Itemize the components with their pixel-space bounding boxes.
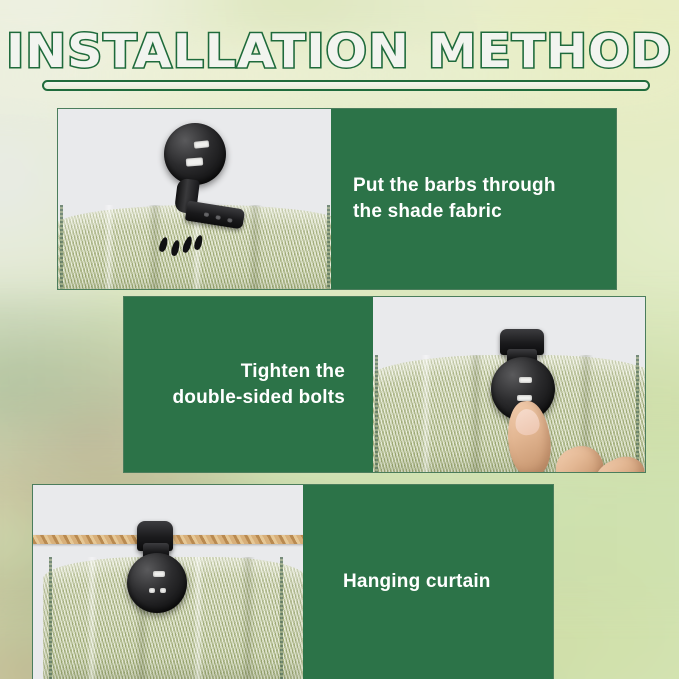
clip-slot-lower bbox=[186, 157, 204, 166]
page-title: INSTALLATION METHOD bbox=[7, 26, 673, 76]
step-3-caption-text: Hanging curtain bbox=[343, 569, 491, 595]
clip-slot-upper bbox=[153, 571, 165, 577]
clip-slot-upper bbox=[519, 377, 532, 383]
clip-disc bbox=[164, 123, 226, 185]
step-1-caption-text: Put the barbs through the shade fabric bbox=[353, 173, 556, 225]
step-1-caption: Put the barbs through the shade fabric bbox=[331, 109, 616, 289]
step-panel-3: Hanging curtain bbox=[32, 484, 554, 679]
step-3-caption: Hanging curtain bbox=[303, 485, 553, 679]
clip-disc bbox=[127, 553, 187, 613]
step-panel-2: Tighten the double-sided bolts bbox=[123, 296, 646, 473]
clip-bolt-dot-left bbox=[149, 588, 155, 593]
step-2-caption-text: Tighten the double-sided bolts bbox=[173, 359, 346, 411]
step-panel-1: Put the barbs through the shade fabric bbox=[57, 108, 617, 290]
step-3-photo bbox=[33, 485, 303, 679]
title-underline-bar bbox=[42, 80, 650, 91]
fingernail bbox=[514, 408, 541, 436]
step-2-photo bbox=[373, 297, 645, 472]
step-1-photo bbox=[58, 109, 331, 289]
clip-bolt-dot-right bbox=[160, 588, 166, 593]
step-2-caption: Tighten the double-sided bolts bbox=[124, 297, 373, 472]
clip-slot-upper bbox=[194, 140, 210, 149]
infographic-canvas: INSTALLATION METHOD bbox=[0, 0, 679, 679]
page-title-container: INSTALLATION METHOD bbox=[0, 26, 679, 76]
